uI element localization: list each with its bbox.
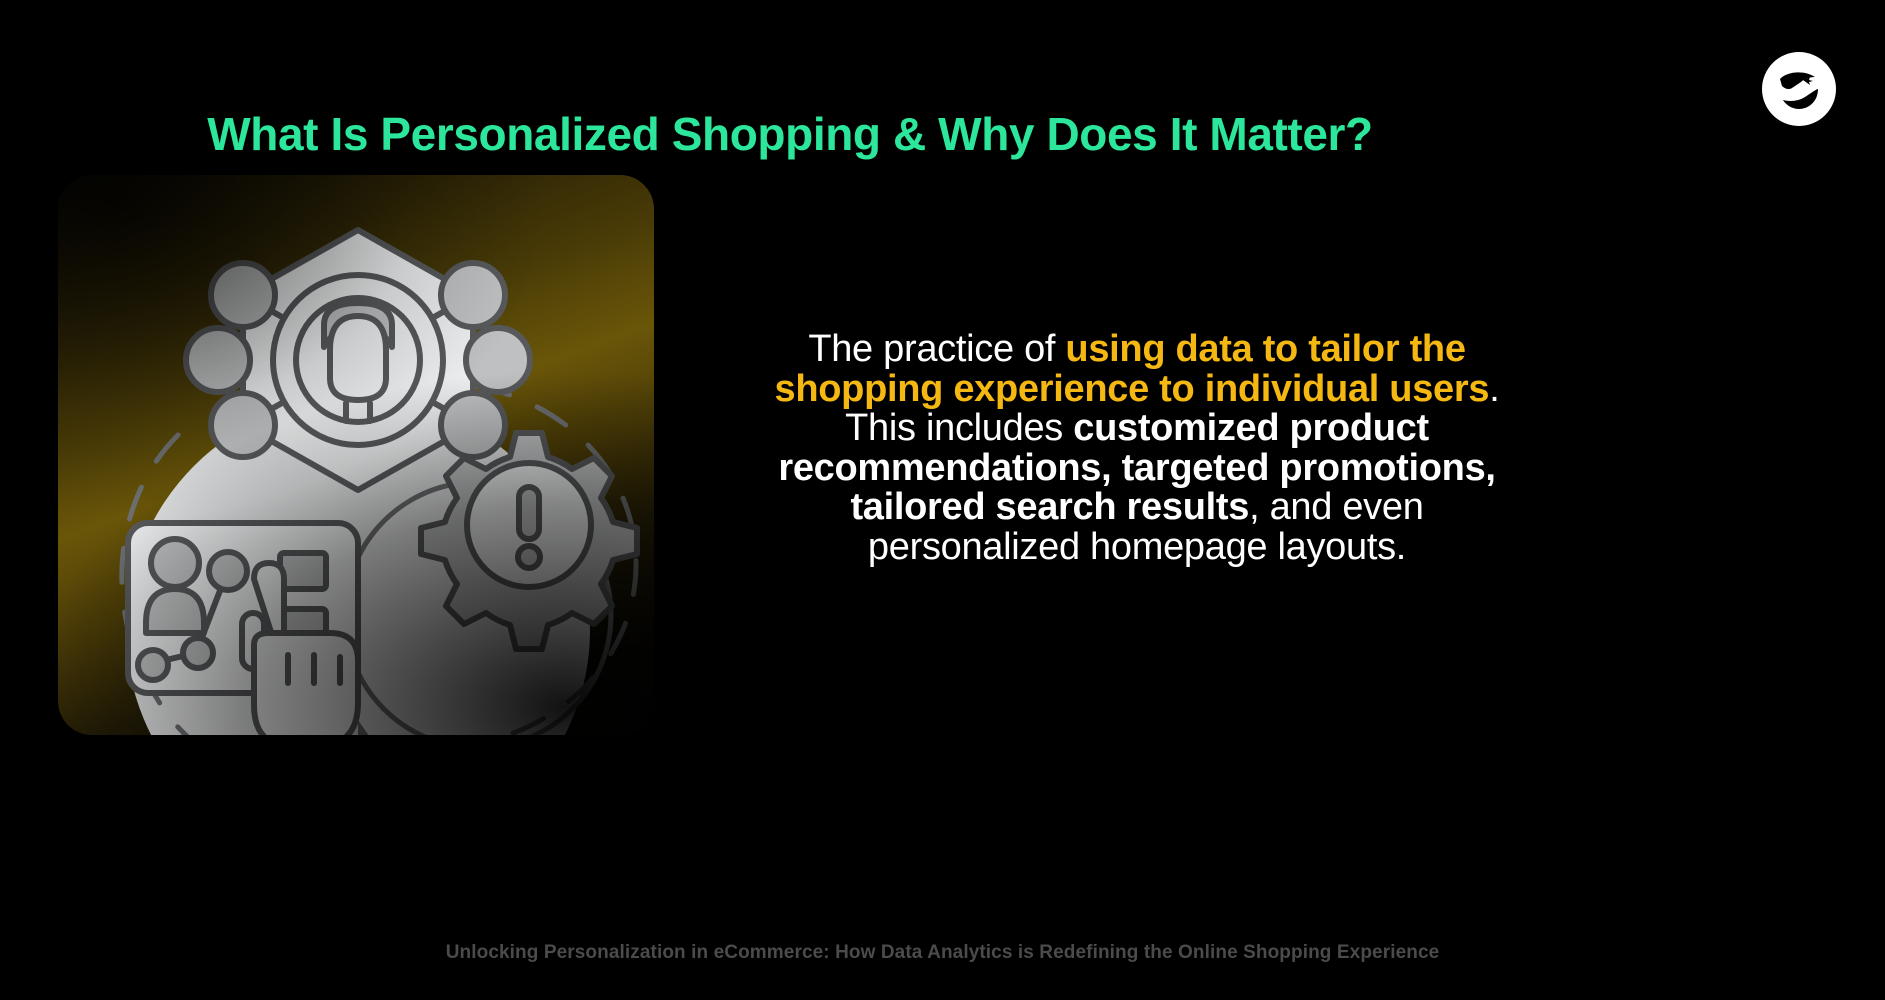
body-copy: The practice of using data to tailor the… <box>742 330 1532 567</box>
illustration-panel <box>58 175 654 735</box>
source-caption: Unlocking Personalization in eCommerce: … <box>0 940 1885 966</box>
body-segment-regular-1: The practice of <box>808 328 1065 370</box>
page-title: What Is Personalized Shopping & Why Does… <box>140 105 1440 163</box>
panel-vignette <box>58 175 654 735</box>
slide-canvas: What Is Personalized Shopping & Why Does… <box>0 0 1885 1000</box>
bird-logo-icon <box>1771 61 1827 117</box>
brand-logo[interactable] <box>1762 52 1836 126</box>
